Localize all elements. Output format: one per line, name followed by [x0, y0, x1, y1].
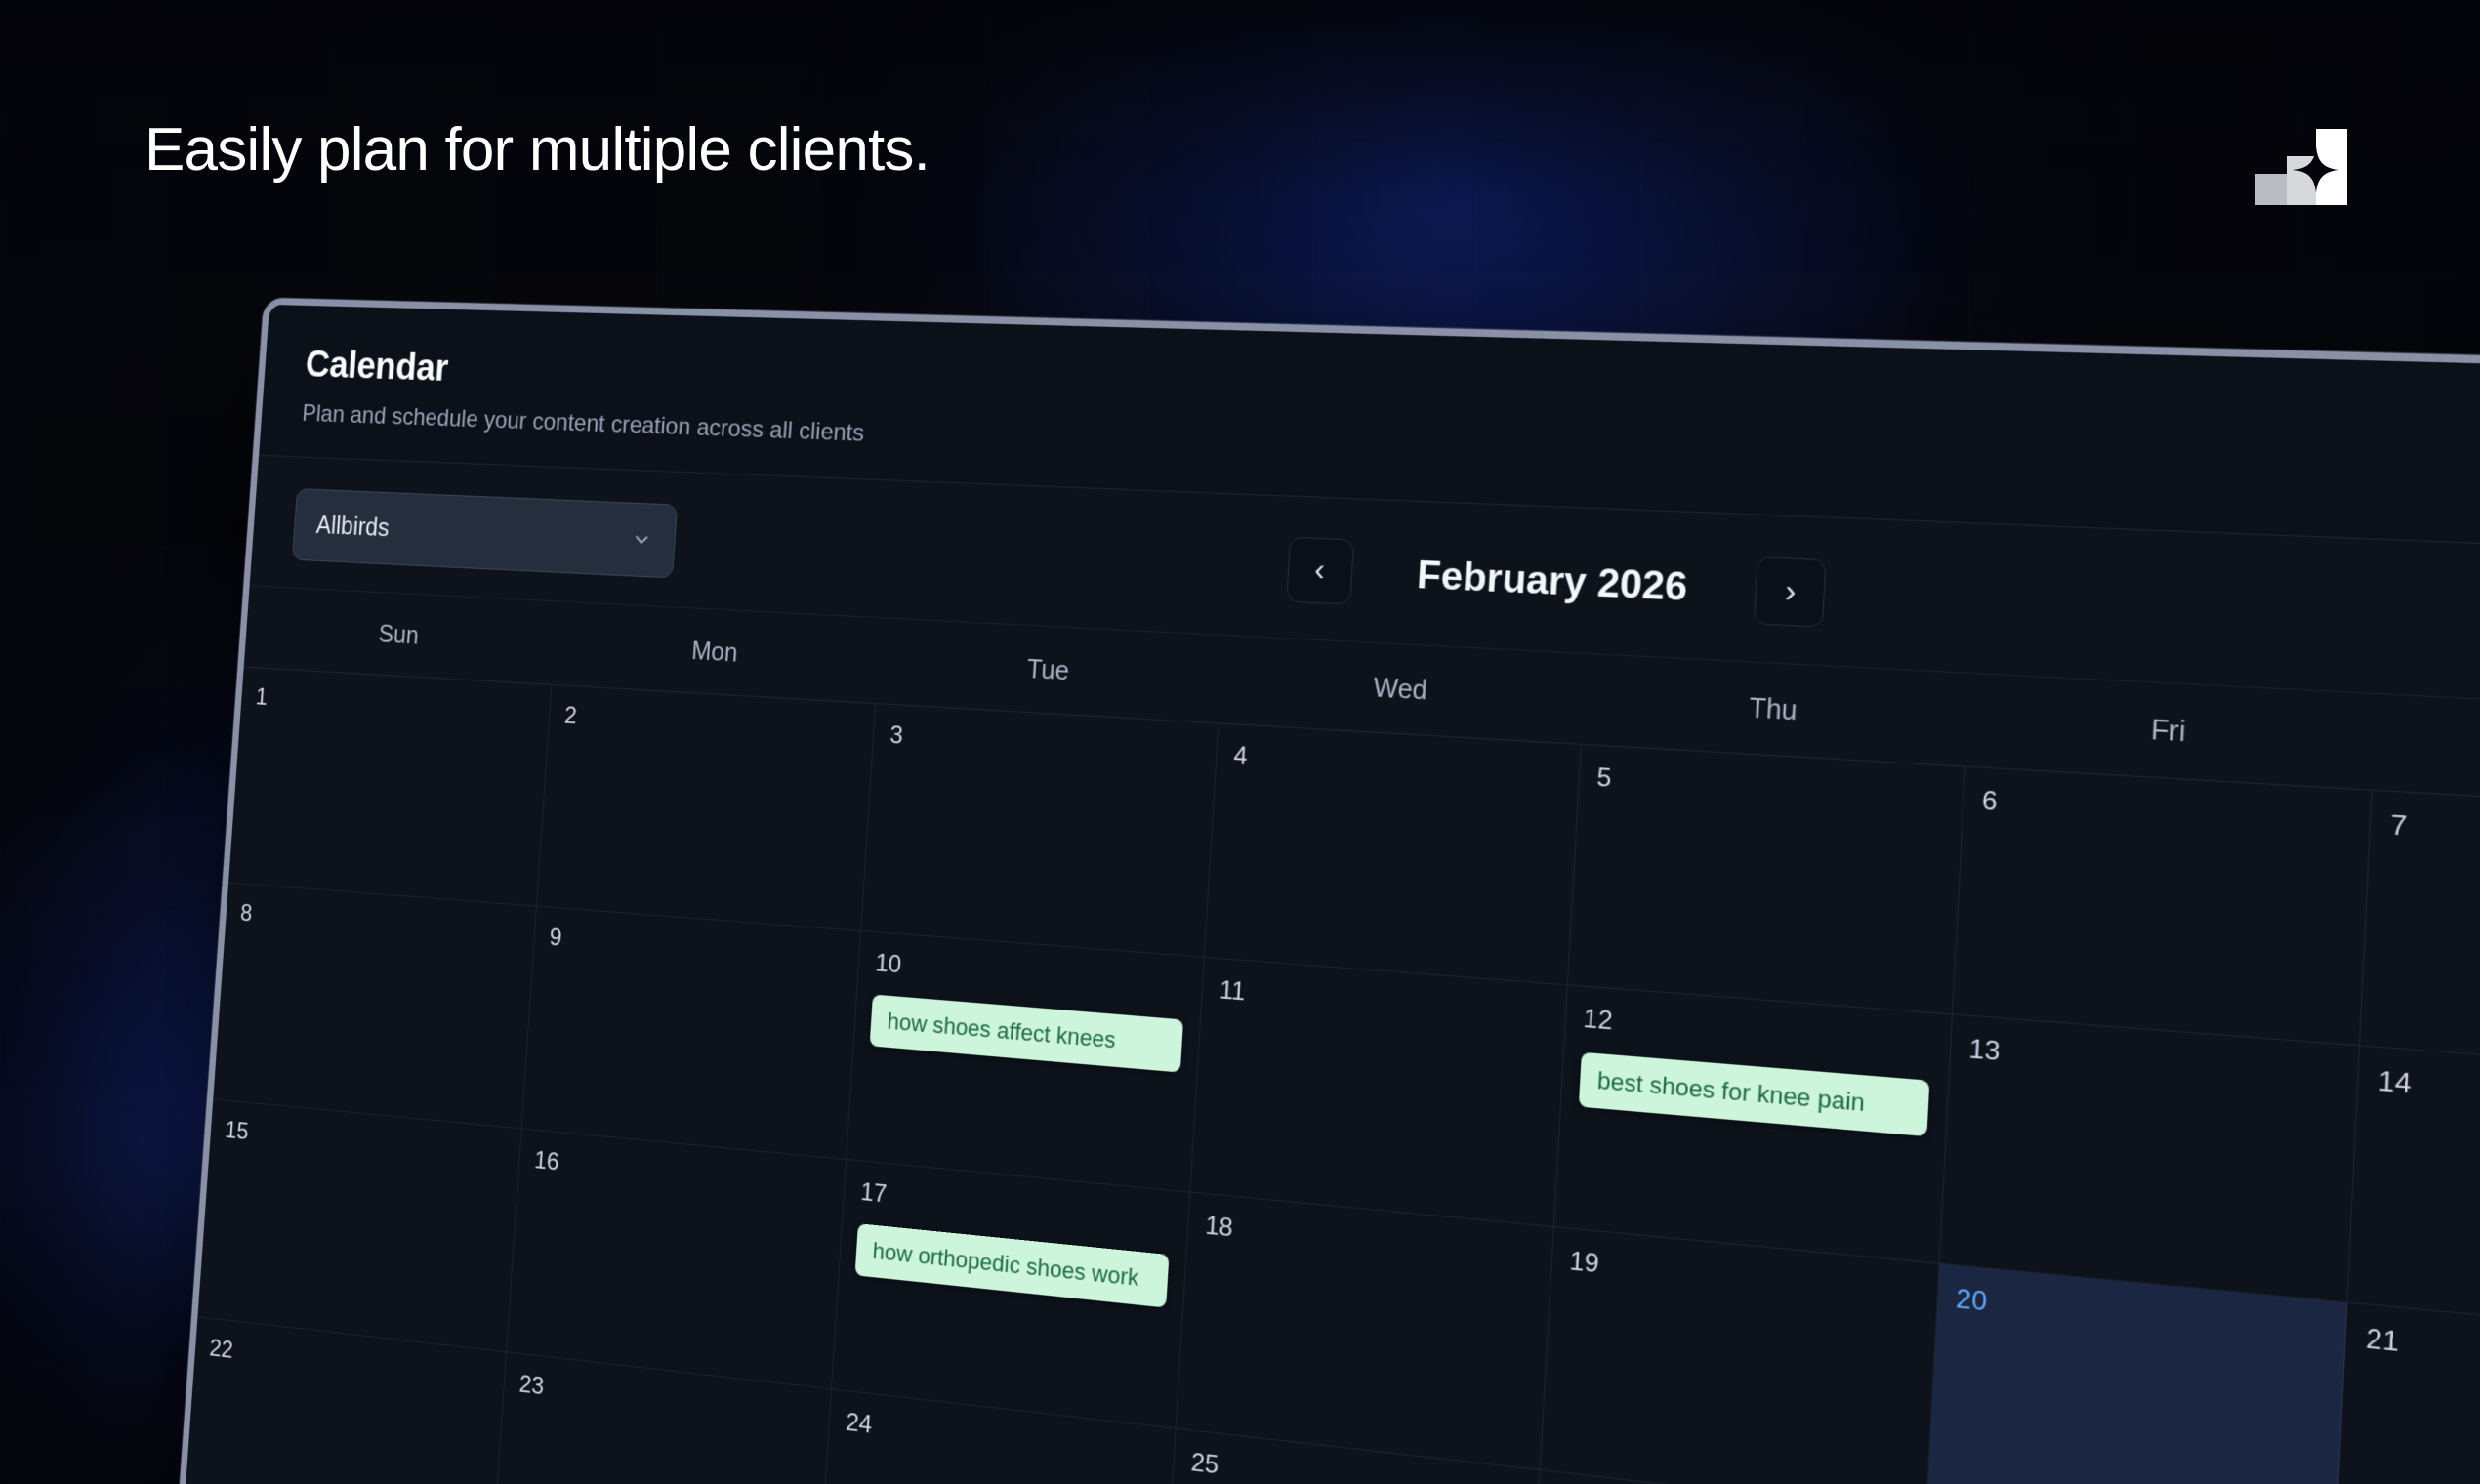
client-selector-value: Allbirds [315, 511, 390, 542]
day-number: 21 [2365, 1326, 2480, 1392]
calendar-grid-container: SunMonTueWedThuFriSat 12345678910how sho… [167, 586, 2480, 1484]
calendar-day-cell[interactable]: 19 [1541, 1227, 1940, 1484]
calendar-day-cell[interactable]: 21 [2335, 1303, 2480, 1484]
calendar-day-cell[interactable]: 14 [2348, 1046, 2480, 1344]
calendar-day-cell[interactable]: 4 [1205, 723, 1582, 985]
day-number: 3 [889, 723, 1201, 767]
calendar-day-cell[interactable]: 9 [521, 907, 861, 1161]
day-number: 19 [1569, 1249, 1919, 1309]
day-number: 17 [860, 1180, 1173, 1236]
calendar-day-cell[interactable]: 7 [2360, 791, 2480, 1080]
day-number: 2 [563, 704, 858, 746]
day-number: 4 [1233, 744, 1562, 789]
next-month-button[interactable]: › [1754, 556, 1827, 628]
day-number: 6 [1981, 788, 2351, 838]
day-number: 10 [875, 951, 1186, 1001]
client-selector[interactable]: Allbirds [292, 488, 678, 578]
day-number: 7 [2390, 812, 2480, 864]
day-number: 12 [1583, 1007, 1931, 1060]
calendar-day-cell[interactable]: 15 [197, 1099, 521, 1352]
calendar-day-cell[interactable]: 17how orthopedic shoes work [832, 1160, 1190, 1428]
day-number: 1 [255, 685, 535, 725]
calendar-day-grid: 12345678910how shoes affect knees1112bes… [167, 667, 2480, 1484]
calendar-day-cell[interactable]: 5 [1568, 745, 1965, 1015]
calendar-day-cell[interactable]: 12best shoes for knee pain [1554, 985, 1953, 1263]
calendar-event-chip[interactable]: how orthopedic shoes work [855, 1223, 1170, 1308]
day-number: 20 [1956, 1286, 2327, 1349]
calendar-day-cell[interactable]: 1 [228, 668, 552, 907]
day-number: 14 [2377, 1068, 2480, 1128]
calendar-day-cell[interactable]: 16 [507, 1129, 847, 1389]
calendar-day-cell[interactable]: 18 [1177, 1193, 1554, 1471]
day-number: 15 [225, 1119, 505, 1170]
calendar-day-cell[interactable]: 8 [213, 883, 536, 1129]
window-stage: Calendar Plan and schedule your content … [0, 0, 2480, 1484]
calendar-event-chip[interactable]: best shoes for knee pain [1579, 1052, 1929, 1137]
calendar-day-cell[interactable]: 20 [1926, 1264, 2348, 1484]
day-number: 16 [533, 1148, 829, 1202]
day-number: 5 [1596, 765, 1945, 812]
month-navigation: ‹ February 2026 › [1286, 537, 1827, 628]
calendar-day-cell[interactable]: 3 [861, 704, 1219, 958]
calendar-event-chip[interactable]: how shoes affect knees [870, 995, 1183, 1073]
current-month-label: February 2026 [1416, 553, 1688, 610]
day-number: 11 [1219, 978, 1549, 1030]
day-number: 9 [549, 926, 845, 973]
day-number: 13 [1968, 1037, 2338, 1093]
chevron-down-icon [631, 528, 652, 551]
calendar-app-window: Calendar Plan and schedule your content … [160, 298, 2480, 1484]
day-number: 8 [239, 902, 519, 948]
calendar-day-cell[interactable]: 2 [537, 685, 877, 931]
calendar-day-cell[interactable]: 10how shoes affect knees [847, 931, 1205, 1193]
day-number: 22 [209, 1337, 490, 1393]
calendar-day-cell[interactable]: 13 [1939, 1015, 2360, 1303]
day-number: 18 [1205, 1214, 1535, 1271]
calendar-day-cell[interactable]: 6 [1953, 767, 2373, 1047]
calendar-day-cell[interactable]: 11 [1190, 958, 1567, 1227]
prev-month-button[interactable]: ‹ [1286, 537, 1354, 605]
